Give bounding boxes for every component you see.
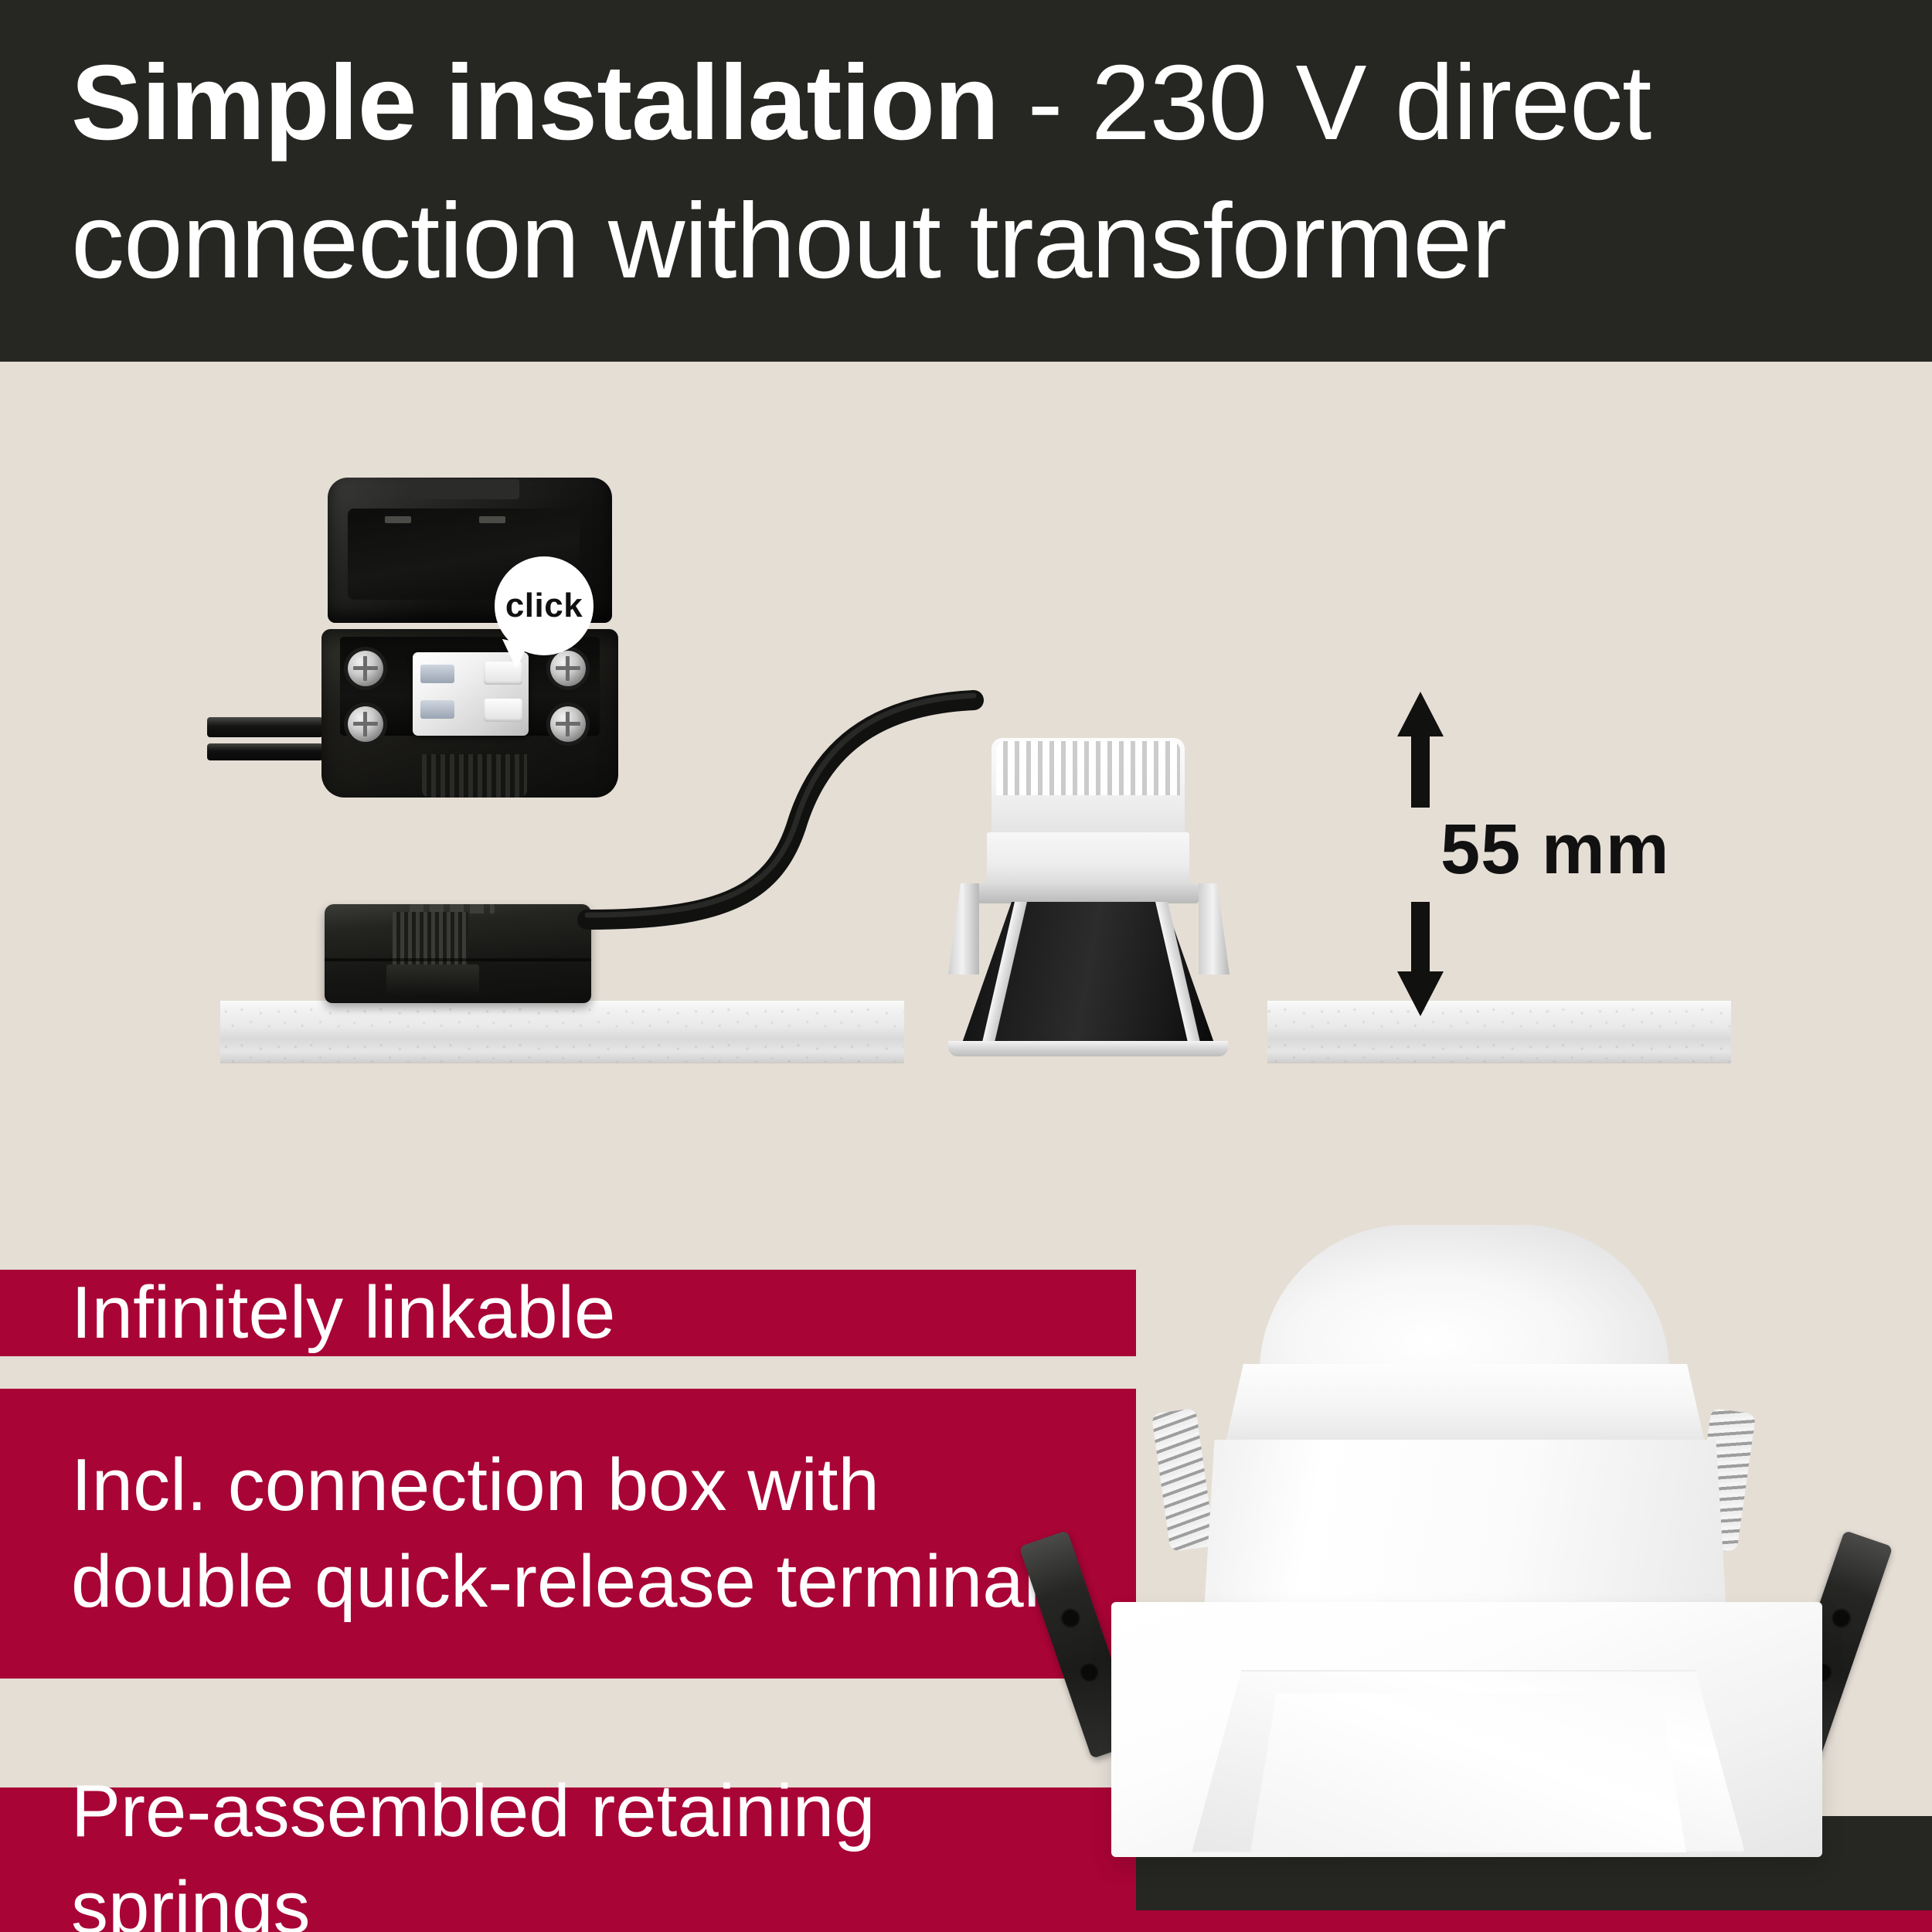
downlight-trim-left xyxy=(948,883,979,975)
mains-cable-a xyxy=(207,717,323,737)
spring-arm-hole-b xyxy=(1077,1659,1102,1685)
feature-banner-1-label: Infinitely linkable xyxy=(71,1265,1105,1362)
mains-cable-b xyxy=(207,743,323,760)
screw-top-right xyxy=(550,651,586,686)
title-light-part: - 230 V direct xyxy=(998,43,1651,162)
lid-tab xyxy=(411,479,519,499)
lid-nub-left xyxy=(385,516,411,523)
terminal-slot-n xyxy=(420,665,454,683)
feature-banner-1: Infinitely linkable xyxy=(0,1270,1136,1356)
downlight-collar xyxy=(1224,1364,1706,1449)
feature-banner-2: Incl. connection box with double quick-r… xyxy=(0,1389,1136,1679)
driver-clip xyxy=(386,964,479,997)
led-module-ribs xyxy=(996,741,1180,795)
square-aperture-inner xyxy=(1250,1693,1686,1852)
screw-bottom-left xyxy=(348,706,383,742)
lid-nub-right xyxy=(479,516,505,523)
base-ribs xyxy=(422,754,527,798)
bottom-red-strip xyxy=(1136,1910,1932,1932)
retaining-spring-coil-left xyxy=(1151,1408,1215,1552)
driver-seam xyxy=(325,958,591,961)
reflector-rim xyxy=(948,1041,1228,1056)
infographic-canvas: Simple installation - 230 V directconnec… xyxy=(0,0,1932,1932)
ceiling-hatching-icon xyxy=(726,599,1716,676)
title-line-two: connection without transformer xyxy=(71,182,1506,301)
title-bold-part: Simple installation xyxy=(71,43,998,162)
page-title: Simple installation - 230 V directconnec… xyxy=(71,34,1818,311)
spring-arm-hole-c xyxy=(1828,1605,1854,1631)
downlight-trim-right xyxy=(1199,883,1230,975)
installed-downlight-cross-section xyxy=(900,738,1279,1090)
bubble-tail xyxy=(497,639,528,670)
dimension-annotation: 55 mm xyxy=(1383,692,1646,1016)
header-bar: Simple installation - 230 V directconnec… xyxy=(0,0,1932,362)
led-module-base xyxy=(987,832,1189,888)
feature-banner-2-label: Incl. connection box with double quick-r… xyxy=(71,1437,1105,1631)
click-callout-bubble: click xyxy=(495,556,594,655)
square-recessed-downlight xyxy=(1028,1225,1917,1812)
screw-top-left xyxy=(348,651,383,686)
led-mounting-plate xyxy=(978,883,1199,903)
dimension-label: 55 mm xyxy=(1440,809,1670,890)
downlight-housing xyxy=(1204,1440,1726,1611)
feature-banner-3: Pre-assembled retaining springs xyxy=(0,1787,1136,1932)
terminal-slot-l xyxy=(420,700,454,719)
led-dome-diffuser xyxy=(1260,1225,1669,1379)
feature-banner-3-label: Pre-assembled retaining springs xyxy=(71,1764,1105,1932)
click-label: click xyxy=(505,587,583,625)
terminal-lever-l xyxy=(484,699,522,722)
spring-arm-hole-a xyxy=(1058,1605,1083,1631)
